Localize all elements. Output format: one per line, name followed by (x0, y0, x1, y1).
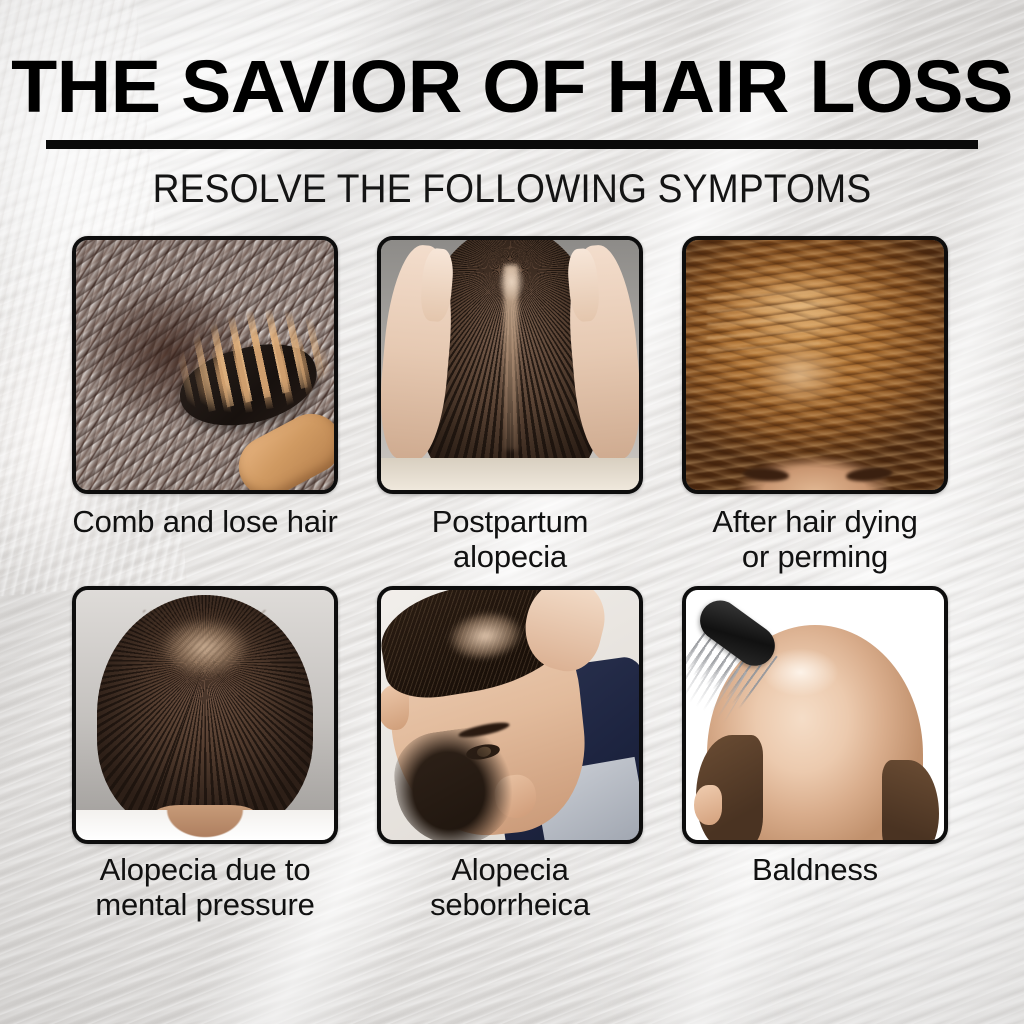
symptom-caption: Comb and lose hair (72, 504, 338, 539)
baldness-photo (686, 590, 944, 840)
alopecia-due-to-mental-pressure-photo (76, 590, 334, 840)
page-subtitle: RESOLVE THE FOLLOWING SYMPTOMS (36, 167, 988, 211)
symptom-grid: Comb and lose hair Postpartum alopecia (72, 236, 948, 922)
symptom-caption: Alopecia seborrheica (377, 852, 643, 922)
infographic-poster: THE SAVIOR OF HAIR LOSS RESOLVE THE FOLL… (0, 0, 1024, 1024)
symptom-photo-card[interactable] (682, 586, 948, 844)
after-hair-dying-or-perming-photo (686, 240, 944, 490)
alopecia-seborrheica-photo (381, 590, 639, 840)
symptom-photo-card[interactable] (377, 586, 643, 844)
symptom-item: Alopecia due to mental pressure (72, 586, 338, 922)
symptom-item: Baldness (682, 586, 948, 922)
symptom-caption: Postpartum alopecia (377, 504, 643, 574)
symptom-photo-card[interactable] (72, 236, 338, 494)
symptom-photo-card[interactable] (72, 586, 338, 844)
title-underline-rule (46, 140, 978, 149)
comb-and-lose-hair-photo (76, 240, 334, 490)
symptom-caption: Alopecia due to mental pressure (72, 852, 338, 922)
poster-header: THE SAVIOR OF HAIR LOSS RESOLVE THE FOLL… (0, 50, 1024, 211)
symptom-caption-line-2: mental pressure (95, 887, 314, 922)
symptom-item: Alopecia seborrheica (377, 586, 643, 922)
symptom-caption-line-1: After hair dying (712, 504, 917, 539)
symptom-item: After hair dying or perming (682, 236, 948, 574)
page-title: THE SAVIOR OF HAIR LOSS (0, 50, 1024, 124)
symptom-item: Comb and lose hair (72, 236, 338, 574)
symptom-caption: After hair dying or perming (682, 504, 948, 574)
symptom-caption-line-2: or perming (742, 539, 888, 574)
symptom-caption-line-1: Alopecia due to (100, 852, 311, 887)
symptom-caption: Baldness (682, 852, 948, 887)
symptom-photo-card[interactable] (682, 236, 948, 494)
symptom-photo-card[interactable] (377, 236, 643, 494)
postpartum-alopecia-photo (381, 240, 639, 490)
symptom-item: Postpartum alopecia (377, 236, 643, 574)
